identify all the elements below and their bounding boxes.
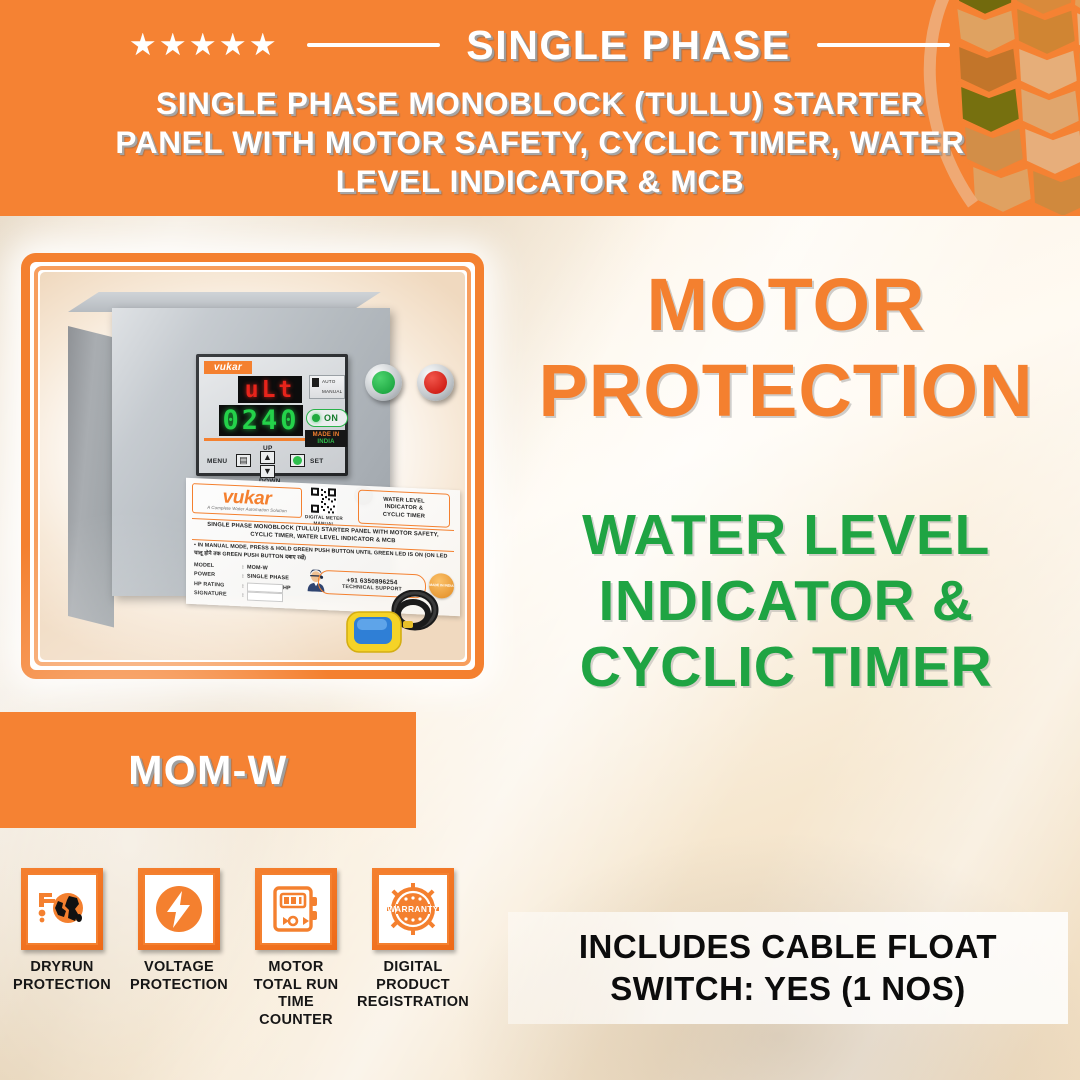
menu-button[interactable]: ▤ [236,454,251,467]
meter-faceplate: vukar uLt 0240 AUTO MANUAL ON [199,357,345,473]
star-icon [190,33,215,58]
header-banner: SINGLE PHASE SINGLE PHASE MONOBLOCK (TUL… [0,0,1080,216]
feature-icon-inner [260,873,332,945]
down-button[interactable]: ▼ [260,465,275,478]
headline-water-level: WATER LEVEL INDICATOR & CYCLIC TIMER [500,502,1072,700]
meter-brand-logo: vukar [204,361,252,374]
feature-icon-inner [143,873,215,945]
set-label: SET [310,458,324,465]
star-icon [130,33,155,58]
product-photo: vukar uLt 0240 AUTO MANUAL ON [40,272,465,660]
menu-label: MENU [207,458,227,465]
header-subtitle-line-1: SINGLE PHASE MONOBLOCK (TULLU) STARTER [0,84,1080,123]
status-indicator-label: ON [324,413,338,423]
feature-label: DIGITAL PRODUCT REGISTRATION [357,959,469,1012]
headline-water-line-3: CYCLIC TIMER [500,634,1072,700]
model-number-text: MOM-W [128,747,288,794]
sticker-brand-tagline: A Complete Water Automation Solution [207,505,287,514]
header-eyebrow-row: SINGLE PHASE [0,16,1080,74]
headline-motor-line-1: MOTOR [500,262,1072,348]
auto-manual-switch[interactable]: AUTO MANUAL [309,375,345,399]
status-indicator-on: ON [306,409,348,427]
meter-display-top: uLt [238,376,302,403]
feature-run-time-counter: MOTOR TOTAL RUN TIME COUNTER [250,868,342,1068]
header-subtitle: SINGLE PHASE MONOBLOCK (TULLU) STARTER P… [0,84,1080,201]
headline-motor-protection: MOTOR PROTECTION [500,262,1072,434]
dryrun-protection-icon [36,888,88,930]
feature-icon-inner: WARRANTY [377,873,449,945]
spec-value: HP [283,584,291,594]
feature-icon-tile: WARRANTY [372,868,454,950]
stop-push-button[interactable] [417,364,454,401]
cable-float-switch-callout: INCLUDES CABLE FLOAT SWITCH: YES (1 NOS) [508,912,1068,1024]
led-dot-icon [312,414,320,422]
divider-line-right [817,43,950,47]
switch-option-manual: MANUAL [322,389,342,394]
feature-icon-tile [255,868,337,950]
feature-icon-row: DRYRUN PROTECTION VOLTAGE PROTECTION [16,868,506,1068]
sticker-spec-table: MODEL : MOM-W POWER : SINGLE PHASE HP RA… [194,561,312,604]
headline-water-line-2: INDICATOR & [500,568,1072,634]
sticker-feature-badge: WATER LEVEL INDICATOR & CYCLIC TIMER [358,490,450,528]
header-eyebrow-text: SINGLE PHASE [466,22,790,69]
spec-blank-field[interactable] [247,592,283,603]
feature-label: VOLTAGE PROTECTION [130,959,228,994]
meter-display-bottom: 0240 [219,405,303,436]
feature-icon-tile [21,868,103,950]
headline-water-line-1: WATER LEVEL [500,502,1072,568]
set-button[interactable] [290,454,305,467]
feature-dryrun-protection: DRYRUN PROTECTION [16,868,108,1068]
model-number-badge: MOM-W [0,712,416,828]
feature-label: MOTOR TOTAL RUN TIME COUNTER [250,959,342,1029]
sticker-brand-name: vukar [223,488,272,507]
switch-knob-icon [312,378,319,387]
up-button[interactable]: ▲ [260,451,275,464]
rating-stars [130,33,275,58]
digital-meter: vukar uLt 0240 AUTO MANUAL ON [196,354,348,476]
sticker-brand-block: vukar A Complete Water Automation Soluti… [192,483,302,518]
meter-controls: MENU ▤ UP ▲ ▼ DOWN SET [199,445,351,477]
cable-float-switch-accessory [343,590,443,658]
product-marketing-poster: SINGLE PHASE SINGLE PHASE MONOBLOCK (TUL… [0,0,1080,1080]
headline-motor-line-2: PROTECTION [500,348,1072,434]
qr-code-icon[interactable] [310,486,337,514]
feature-icon-tile [138,868,220,950]
warranty-badge-icon: WARRANTY [387,883,439,935]
made-in-line-1: MADE IN [313,432,340,439]
callout-line-1: INCLUDES CABLE FLOAT [579,926,997,968]
start-push-button[interactable] [365,364,402,401]
switch-option-auto: AUTO [322,379,335,384]
badge-line-3: CYCLIC TIMER [383,511,425,520]
header-subtitle-line-2: PANEL WITH MOTOR SAFETY, CYCLIC TIMER, W… [0,123,1080,162]
svg-text:WARRANTY: WARRANTY [387,904,439,914]
star-icon [160,33,185,58]
star-icon [250,33,275,58]
star-icon [220,33,245,58]
enclosure-side [68,326,114,627]
feature-label: DRYRUN PROTECTION [13,959,111,994]
product-image-frame: vukar uLt 0240 AUTO MANUAL ON [21,253,484,679]
enclosure-front-door: vukar uLt 0240 AUTO MANUAL ON [112,308,390,596]
divider-line-left [307,43,440,47]
run-time-counter-icon [270,883,322,935]
feature-icon-inner [26,873,98,945]
callout-line-2: SWITCH: YES (1 NOS) [610,968,965,1010]
voltage-protection-icon [154,884,204,934]
feature-voltage-protection: VOLTAGE PROTECTION [133,868,225,1068]
feature-digital-registration: WARRANTY DIGITAL PRODUCT REGISTRATION [367,868,459,1068]
header-subtitle-line-3: LEVEL INDICATOR & MCB [0,162,1080,201]
spec-key: SIGNATURE [194,589,242,601]
